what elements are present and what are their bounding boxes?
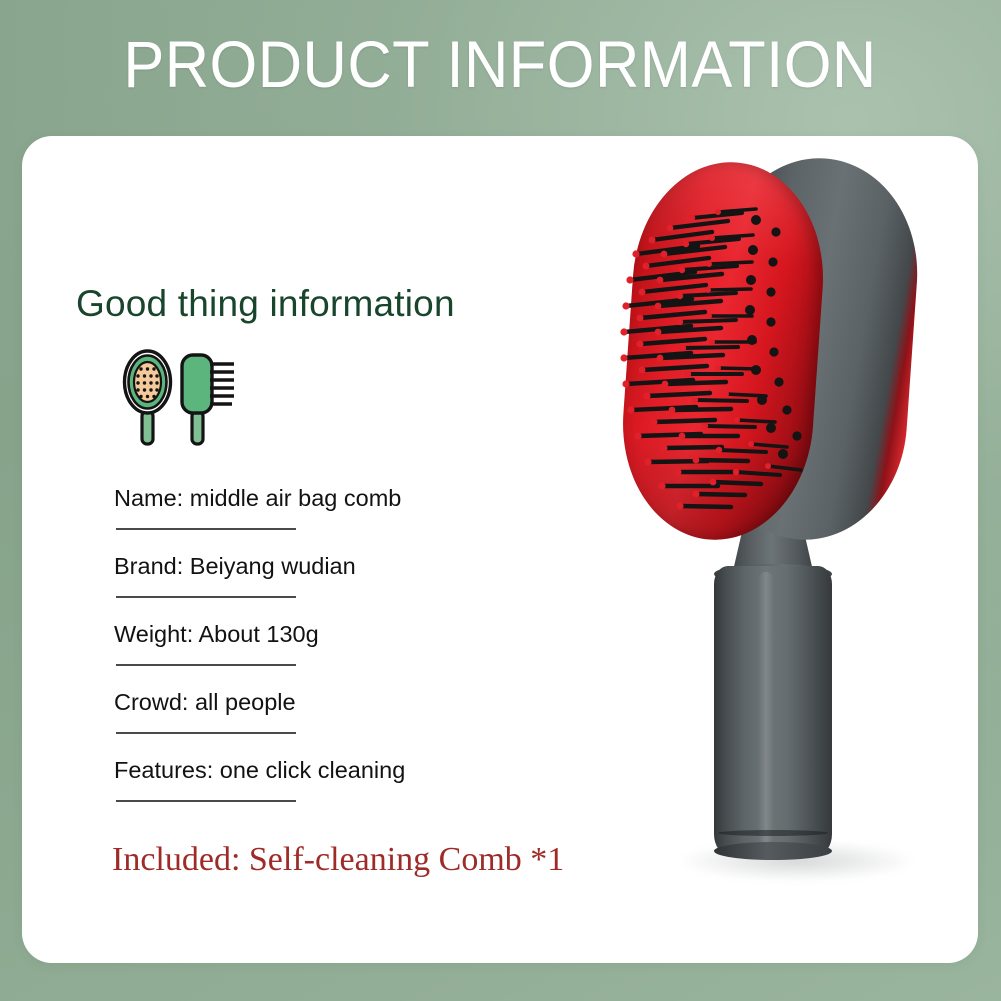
content-card: Good thing information	[22, 136, 978, 963]
product-information-page: PRODUCT INFORMATION Good thing informati…	[0, 0, 1001, 1001]
page-header: PRODUCT INFORMATION	[0, 0, 1001, 128]
spec-row: Weight: About 130g	[114, 620, 584, 688]
spec-text-name: Name: middle air bag comb	[114, 484, 401, 513]
spec-text-crowd: Crowd: all people	[114, 688, 296, 717]
brush-handle-highlight	[758, 572, 774, 844]
section-heading: Good thing information	[76, 283, 455, 325]
spec-text-weight: Weight: About 130g	[114, 620, 319, 649]
spec-divider	[116, 528, 296, 530]
page-title: PRODUCT INFORMATION	[124, 31, 877, 97]
spec-text-brand: Brand: Beiyang wudian	[114, 552, 356, 581]
spec-row: Name: middle air bag comb	[114, 484, 584, 552]
brush-handle-bottom-cap	[714, 842, 832, 860]
spec-text-features: Features: one click cleaning	[114, 756, 405, 785]
product-stage	[562, 136, 978, 963]
included-items-text: Included: Self-cleaning Comb *1	[112, 840, 564, 880]
brush-bristles	[600, 158, 920, 558]
spec-divider	[116, 664, 296, 666]
spec-row: Brand: Beiyang wudian	[114, 552, 584, 620]
spec-row: Features: one click cleaning	[114, 756, 584, 824]
spec-row: Crowd: all people	[114, 688, 584, 756]
information-column: Good thing information	[52, 136, 592, 963]
spec-divider	[116, 800, 296, 802]
specification-list: Name: middle air bag comb Brand: Beiyang…	[114, 484, 584, 824]
spec-divider	[116, 596, 296, 598]
product-image	[562, 136, 978, 963]
spec-divider	[116, 732, 296, 734]
brush-handle-ring	[718, 830, 828, 836]
hair-brush-and-comb-icon	[120, 345, 238, 447]
brush-head	[600, 158, 920, 558]
